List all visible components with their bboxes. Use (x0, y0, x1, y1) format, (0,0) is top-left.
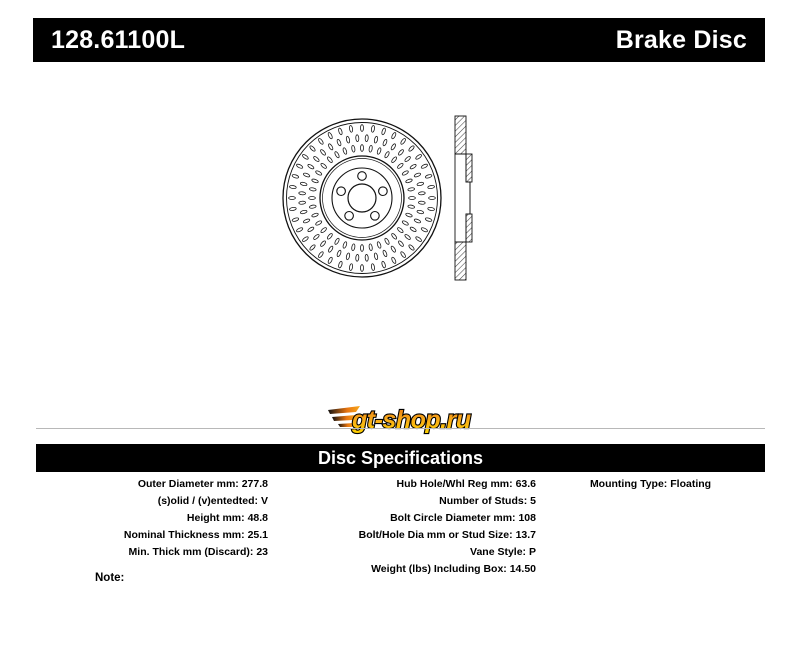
spec-label: Min. Thick mm (Discard): (129, 546, 254, 558)
spec-value: V (261, 495, 268, 507)
spec-columns: Outer Diameter mm: 277.8 (s)olid / (v)en… (36, 477, 765, 577)
spec-value: 108 (518, 512, 536, 524)
spec-value: 23 (256, 546, 268, 558)
spec-column-middle: Hub Hole/Whl Reg mm: 63.6 Number of Stud… (268, 477, 536, 577)
product-drawing-area: gt-shop.ru (0, 90, 800, 410)
spec-label: Weight (lbs) Including Box: (371, 563, 507, 575)
spec-row: Bolt/Hole Dia mm or Stud Size: 13.7 (268, 528, 536, 543)
spec-label: Nominal Thickness mm: (124, 529, 245, 541)
spec-label: Bolt/Hole Dia mm or Stud Size: (359, 529, 513, 541)
spec-row: Outer Diameter mm: 277.8 (36, 477, 268, 492)
spec-label: Vane Style: (470, 546, 526, 558)
spec-label: Hub Hole/Whl Reg mm: (397, 478, 513, 490)
spec-row: Number of Studs: 5 (268, 494, 536, 509)
rotor-cross-section-view (444, 108, 484, 288)
spec-section-title: Disc Specifications (318, 449, 483, 467)
watermark-text: gt-shop.ru (351, 406, 471, 434)
spec-value: 277.8 (242, 478, 268, 490)
spec-row: Hub Hole/Whl Reg mm: 63.6 (268, 477, 536, 492)
spec-row: Height mm: 48.8 (36, 511, 268, 526)
spec-value: 13.7 (516, 529, 536, 541)
note-block: Note: (95, 570, 130, 586)
spec-row: Mounting Type: Floating (536, 477, 765, 492)
spec-value: 5 (530, 495, 536, 507)
spec-row: Vane Style: P (268, 545, 536, 560)
spec-label: Number of Studs: (439, 495, 527, 507)
page-title: Brake Disc (616, 28, 747, 53)
spec-column-right: Mounting Type: Floating (536, 477, 765, 492)
spec-row: Weight (lbs) Including Box: 14.50 (268, 562, 536, 577)
spec-column-left: Outer Diameter mm: 277.8 (s)olid / (v)en… (36, 477, 268, 560)
spec-value: Floating (670, 478, 711, 490)
spec-value: P (529, 546, 536, 558)
rotor-face-view (272, 108, 452, 288)
spec-label: Height mm: (187, 512, 245, 524)
header-bar: 128.61100L Brake Disc (33, 18, 765, 62)
spec-row: (s)olid / (v)entedted: V (36, 494, 268, 509)
spec-value: 48.8 (248, 512, 268, 524)
spec-label: (s)olid / (v)entedted: (158, 495, 258, 507)
spec-row: Bolt Circle Diameter mm: 108 (268, 511, 536, 526)
spec-header-bar: Disc Specifications (36, 444, 765, 472)
note-label: Note: (95, 572, 124, 584)
section-divider (36, 428, 765, 429)
spec-label: Mounting Type: (590, 478, 667, 490)
spec-value: 25.1 (248, 529, 268, 541)
spec-label: Outer Diameter mm: (138, 478, 239, 490)
spec-value: 63.6 (516, 478, 536, 490)
spec-row: Min. Thick mm (Discard): 23 (36, 545, 268, 560)
spec-label: Bolt Circle Diameter mm: (390, 512, 515, 524)
part-number: 128.61100L (51, 28, 185, 53)
spec-value: 14.50 (510, 563, 536, 575)
gt-shop-watermark: gt-shop.ru (326, 396, 502, 440)
spec-row: Nominal Thickness mm: 25.1 (36, 528, 268, 543)
